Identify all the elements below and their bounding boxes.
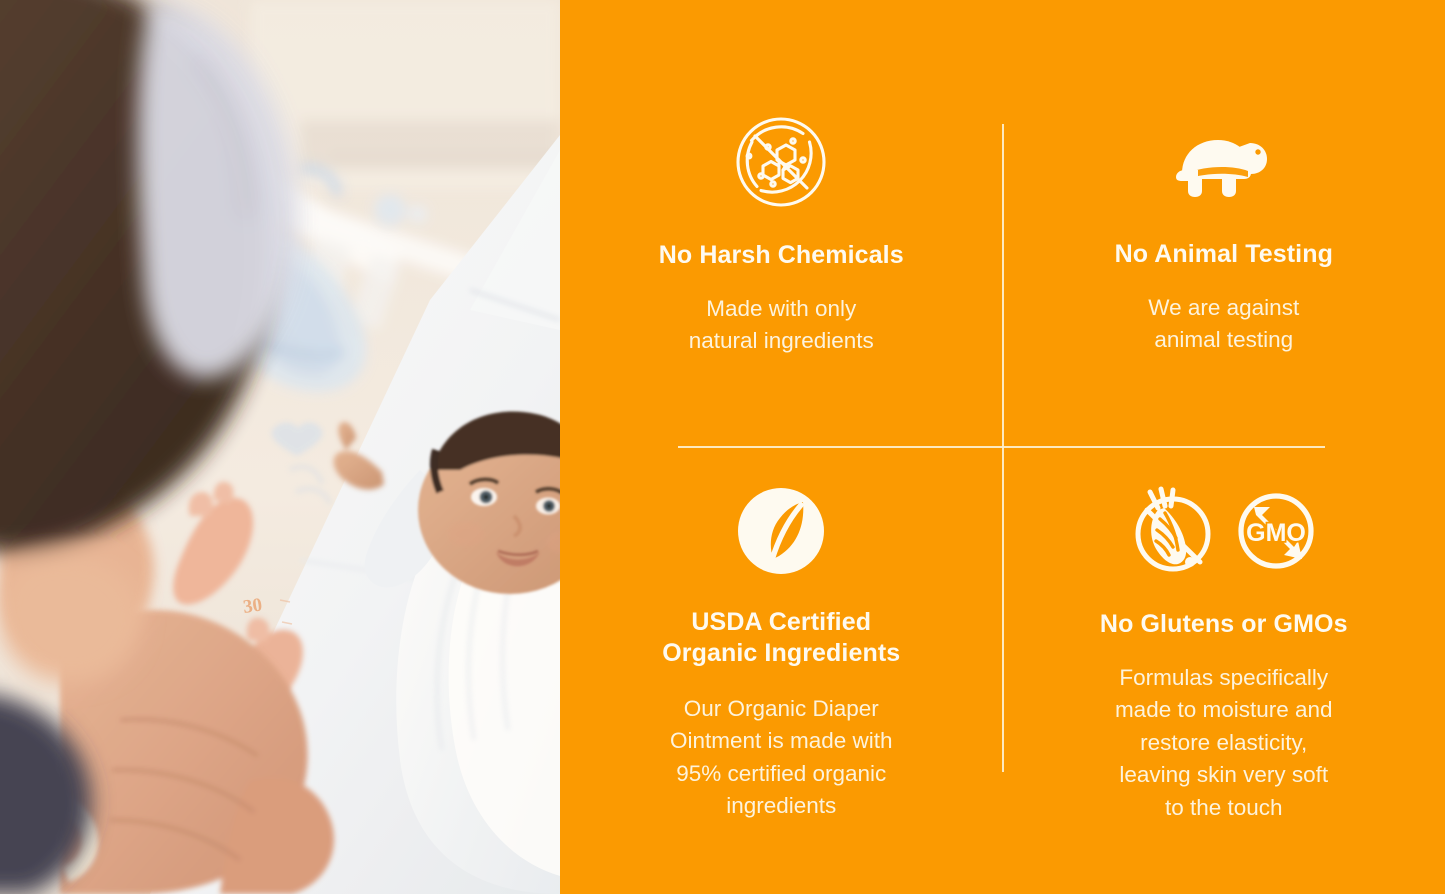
feature-no-animal-testing: No Animal Testing We are against animal … [1003,0,1445,447]
no-gluten-icon [1128,486,1218,576]
feature-description: Our Organic Diaper Ointment is made with… [670,693,893,823]
feature-title: USDA Certified Organic Ingredients [662,607,900,669]
baby-changing-photo: 20 30 10 [0,0,560,894]
leaf-circle-icon [735,479,827,583]
feature-description: Made with only natural ingredients [689,293,874,358]
feature-title: No Harsh Chemicals [659,240,904,271]
divider-horizontal [678,446,1325,448]
turtle-icon [1174,110,1274,214]
product-benefits-banner: 20 30 10 [0,0,1445,894]
features-panel: No Harsh Chemicals Made with only natura… [560,0,1445,894]
no-gmo-icon: GMO [1232,487,1320,575]
feature-usda-certified-organic: USDA Certified Organic Ingredients Our O… [560,447,1003,894]
gmo-label: GMO [1246,519,1306,547]
feature-description: Formulas specifically made to moisture a… [1115,662,1333,824]
divider-vertical [1002,124,1004,772]
no-gluten-no-gmo-icon: GMO [1128,479,1320,583]
feature-description: We are against animal testing [1148,292,1299,357]
feature-title: No Animal Testing [1115,239,1333,270]
no-chemicals-icon [733,110,829,214]
feature-no-harsh-chemicals: No Harsh Chemicals Made with only natura… [560,0,1003,447]
feature-no-glutens-or-gmos: GMO No Glutens or GMOs Formulas specific… [1003,447,1445,894]
photo-illustration: 20 30 10 [0,0,560,894]
feature-title: No Glutens or GMOs [1100,609,1348,640]
